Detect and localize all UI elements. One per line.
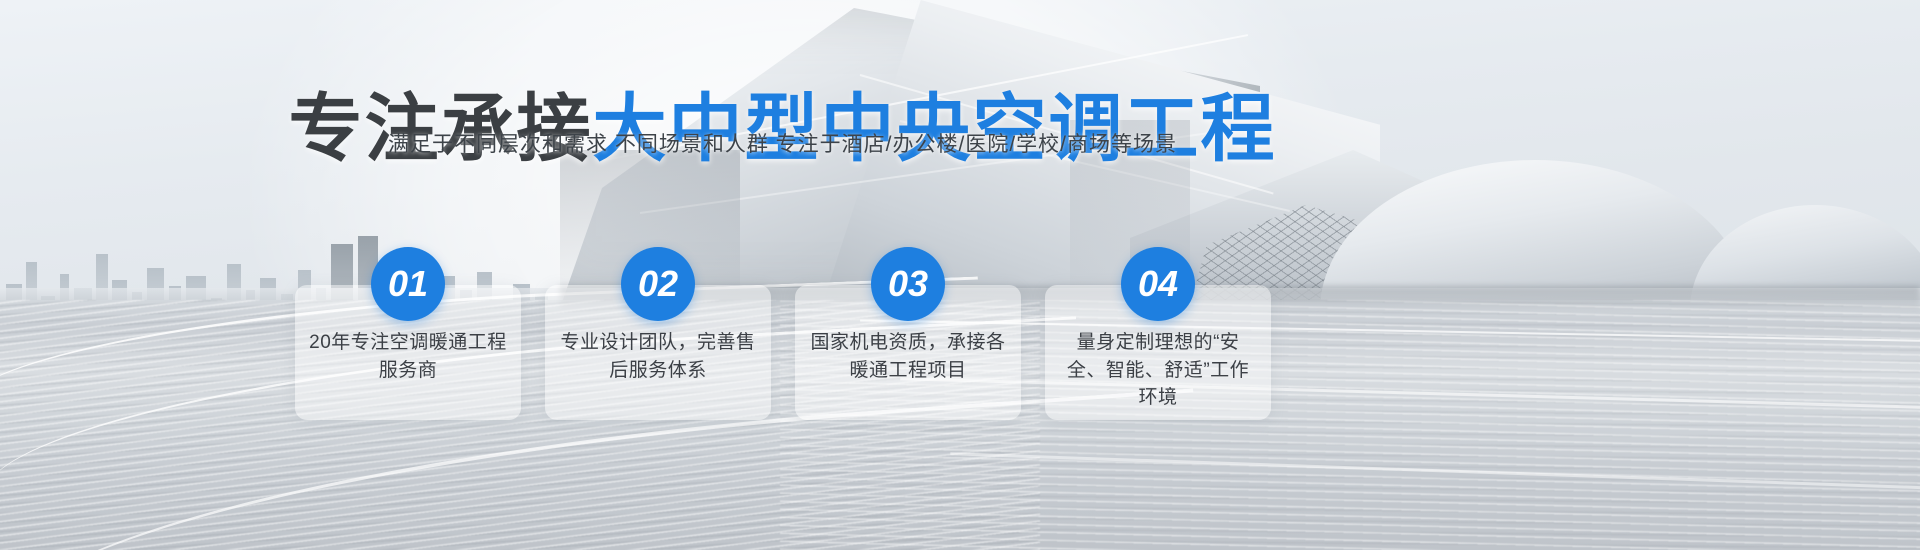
- feature-card-text: 国家机电资质，承接各暖通工程项目: [809, 329, 1007, 384]
- feature-card-text: 专业设计团队，完善售后服务体系: [559, 329, 757, 384]
- feature-card-number-badge: 03: [871, 247, 945, 321]
- feature-card-number-badge: 02: [621, 247, 695, 321]
- feature-card-text: 量身定制理想的“安全、智能、舒适”工作环境: [1059, 329, 1257, 412]
- feature-card-number-badge: 01: [371, 247, 445, 321]
- feature-card[interactable]: 03 国家机电资质，承接各暖通工程项目: [795, 285, 1021, 420]
- feature-card[interactable]: 02 专业设计团队，完善售后服务体系: [545, 285, 771, 420]
- feature-card-text: 20年专注空调暖通工程服务商: [309, 329, 507, 384]
- hvac-hero-banner: 专注承接大中型中央空调工程 满足于不同层次和需求 不同场景和人群 专注于酒店/办…: [0, 0, 1920, 550]
- feature-card[interactable]: 04 量身定制理想的“安全、智能、舒适”工作环境: [1045, 285, 1271, 420]
- banner-content: 专注承接大中型中央空调工程 满足于不同层次和需求 不同场景和人群 专注于酒店/办…: [0, 0, 1920, 550]
- feature-card-list: 01 20年专注空调暖通工程服务商 02 专业设计团队，完善售后服务体系 03 …: [295, 245, 1295, 425]
- feature-card-number-badge: 04: [1121, 247, 1195, 321]
- page-subtitle: 满足于不同层次和需求 不同场景和人群 专注于酒店/办公楼/医院/学校/商场等场景: [0, 128, 1565, 158]
- feature-card[interactable]: 01 20年专注空调暖通工程服务商: [295, 285, 521, 420]
